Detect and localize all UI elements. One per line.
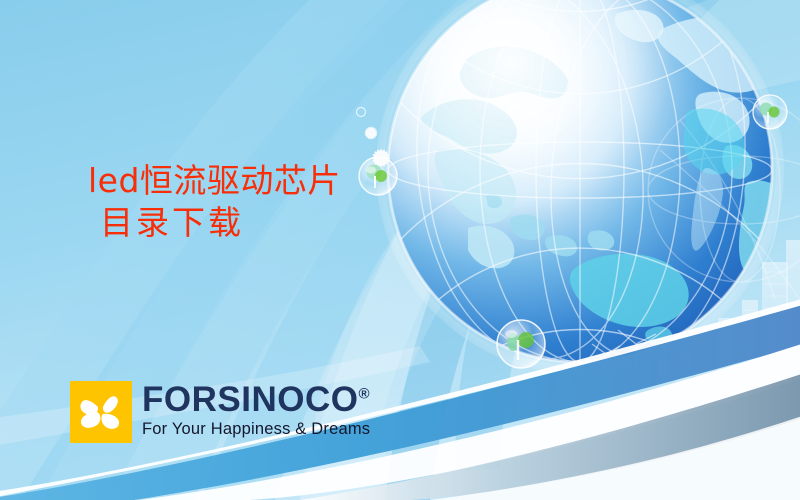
slide-canvas: led恒流驱动芯片 目录下载 FORSINOCO® (0, 0, 800, 500)
bubble-icon-2 (497, 320, 545, 368)
forsinoco-logo-mark (70, 381, 132, 443)
headline-block: led恒流驱动芯片 目录下载 (88, 160, 341, 244)
bubble-icon-1 (359, 157, 397, 195)
company-logo: FORSINOCO® For Your Happiness & Dreams (70, 381, 370, 443)
brand-name: FORSINOCO® (142, 383, 370, 417)
globe-graphic (375, 0, 800, 390)
logo-wordmark: FORSINOCO® For Your Happiness & Dreams (142, 381, 370, 438)
pinwheel-flower-icon (70, 381, 132, 443)
brand-tagline: For Your Happiness & Dreams (142, 420, 370, 438)
headline-line-1: led恒流驱动芯片 (88, 160, 341, 202)
bubble-icon-3 (753, 95, 787, 129)
sparkle-icons (357, 108, 391, 168)
city-skyline (592, 240, 800, 382)
brand-name-text: FORSINOCO (142, 380, 358, 419)
headline-line-2: 目录下载 (100, 202, 341, 244)
registered-trademark-icon: ® (358, 385, 370, 402)
